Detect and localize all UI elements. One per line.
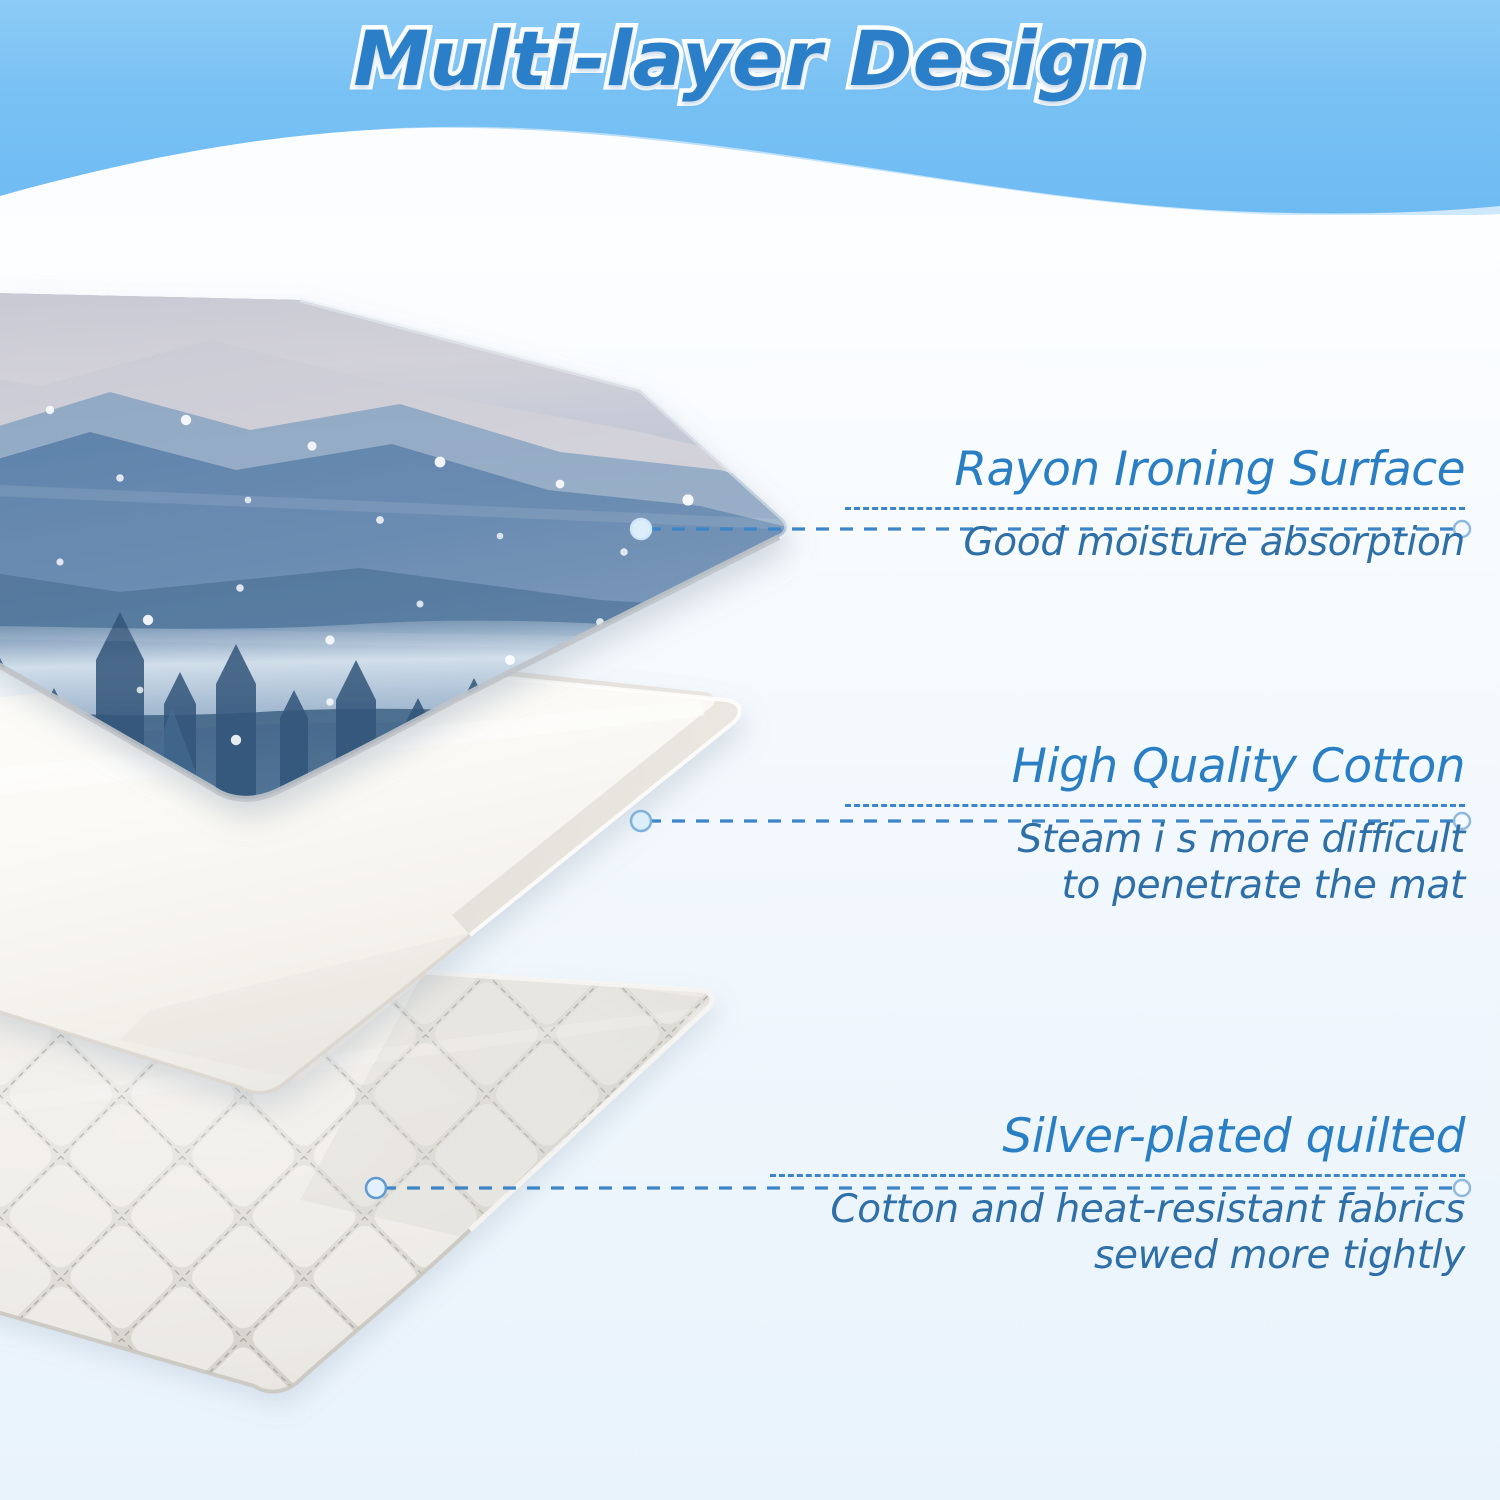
callout-3-desc-line-2: sewed more tightly [770,1233,1465,1279]
callout-high-quality-cotton: High Quality Cotton Steam i s more diffi… [845,742,1465,909]
callout-3-desc-line-1: Cotton and heat-resistant fabrics [770,1187,1465,1233]
callout-1-divider [845,507,1465,510]
infographic-page: Multi-layer Design [0,0,1500,1500]
callout-2-desc-line-1: Steam i s more difficult [845,817,1465,863]
callout-1-title: Rayon Ironing Surface [845,445,1465,494]
callout-rayon-ironing-surface: Rayon Ironing Surface Good moisture abso… [845,445,1465,566]
callout-2-divider [845,804,1465,807]
page-title: Multi-layer Design [0,14,1500,103]
callout-1-desc-line-1: Good moisture absorption [845,520,1465,566]
callout-3-divider [770,1174,1465,1177]
callout-2-title: High Quality Cotton [845,742,1465,791]
callout-silver-plated-quilted: Silver-plated quilted Cotton and heat-re… [770,1112,1465,1279]
callout-2-desc-line-2: to penetrate the mat [845,863,1465,909]
callout-3-title: Silver-plated quilted [770,1112,1465,1161]
